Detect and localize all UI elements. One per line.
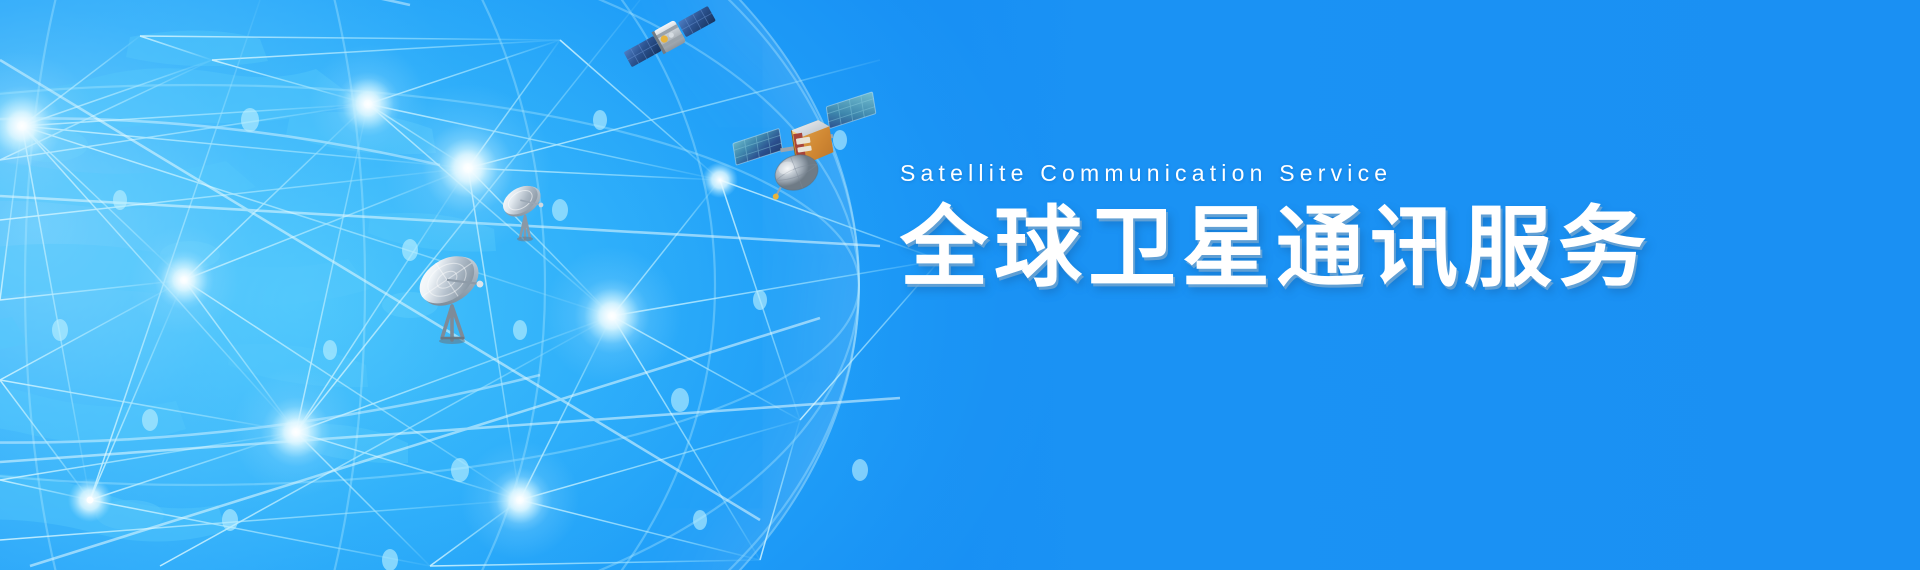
page-title: 全球卫星通讯服务 [900, 201, 1660, 294]
parabolic-dish-antenna-small [496, 176, 558, 242]
parabolic-dish-antenna-large [408, 246, 502, 344]
orbiting-satellite-large [734, 108, 884, 208]
eyebrow-text: Satellite Communication Service [900, 160, 1660, 187]
hero-banner: Satellite Communication Service 全球卫星通讯服务 [0, 0, 1920, 570]
orbiting-satellite-small [620, 2, 720, 72]
copy-block: Satellite Communication Service 全球卫星通讯服务 [900, 160, 1660, 294]
